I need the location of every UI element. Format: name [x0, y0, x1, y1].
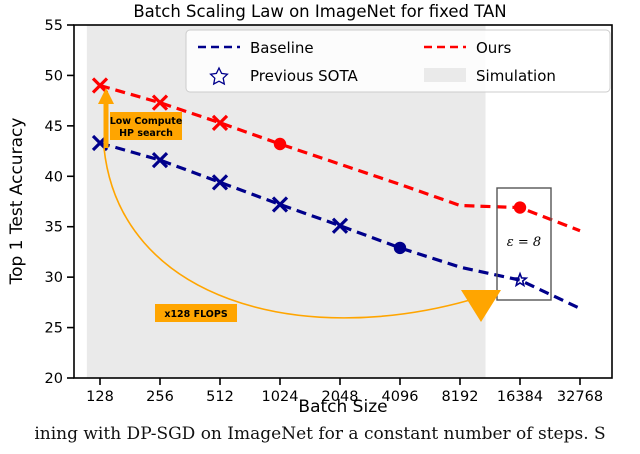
svg-text:40: 40 [45, 169, 63, 185]
svg-text:35: 35 [45, 220, 63, 236]
data-point-baseline-4096 [395, 242, 406, 253]
flops-label: x128 FLOPS [164, 309, 228, 320]
svg-text:45: 45 [45, 119, 63, 135]
legend[interactable]: Baseline Ours Previous SOTA Simulation [186, 30, 610, 92]
svg-text:512: 512 [206, 389, 234, 405]
svg-text:50: 50 [45, 68, 63, 84]
chart-canvas: 2025303540455055 12825651210242048409681… [0, 0, 640, 454]
svg-text:1024: 1024 [262, 389, 299, 405]
figure-caption: ining with DP-SGD on ImageNet for a cons… [0, 424, 640, 444]
y-axis-label: Top 1 Test Accuracy [7, 118, 27, 286]
epsilon-box-label: ε = 8 [507, 235, 541, 250]
svg-text:20: 20 [45, 371, 63, 387]
data-point-ours-1024 [275, 139, 286, 150]
svg-text:55: 55 [45, 18, 63, 34]
svg-text:256: 256 [146, 389, 174, 405]
legend-label-previous-sota: Previous SOTA [250, 67, 358, 85]
svg-text:16384: 16384 [497, 389, 543, 405]
x-axis-label: Batch Size [298, 397, 387, 417]
svg-text:30: 30 [45, 270, 63, 286]
svg-text:8192: 8192 [442, 389, 479, 405]
data-point-ours-16384 [515, 202, 526, 213]
low-compute-label-line1: Low Compute [110, 116, 183, 127]
low-compute-label-line2: HP search [119, 128, 173, 139]
legend-label-baseline: Baseline [250, 39, 314, 57]
y-axis-ticks: 2025303540455055 [45, 18, 74, 387]
figure-container: Batch Scaling Law on ImageNet for fixed … [0, 0, 640, 454]
svg-text:128: 128 [86, 389, 114, 405]
svg-text:25: 25 [45, 321, 63, 337]
legend-label-ours: Ours [476, 39, 511, 57]
legend-label-simulation: Simulation [476, 67, 556, 85]
svg-text:32768: 32768 [557, 389, 603, 405]
legend-swatch-simulation [424, 68, 466, 82]
data-point-baseline-16384 [514, 274, 526, 286]
